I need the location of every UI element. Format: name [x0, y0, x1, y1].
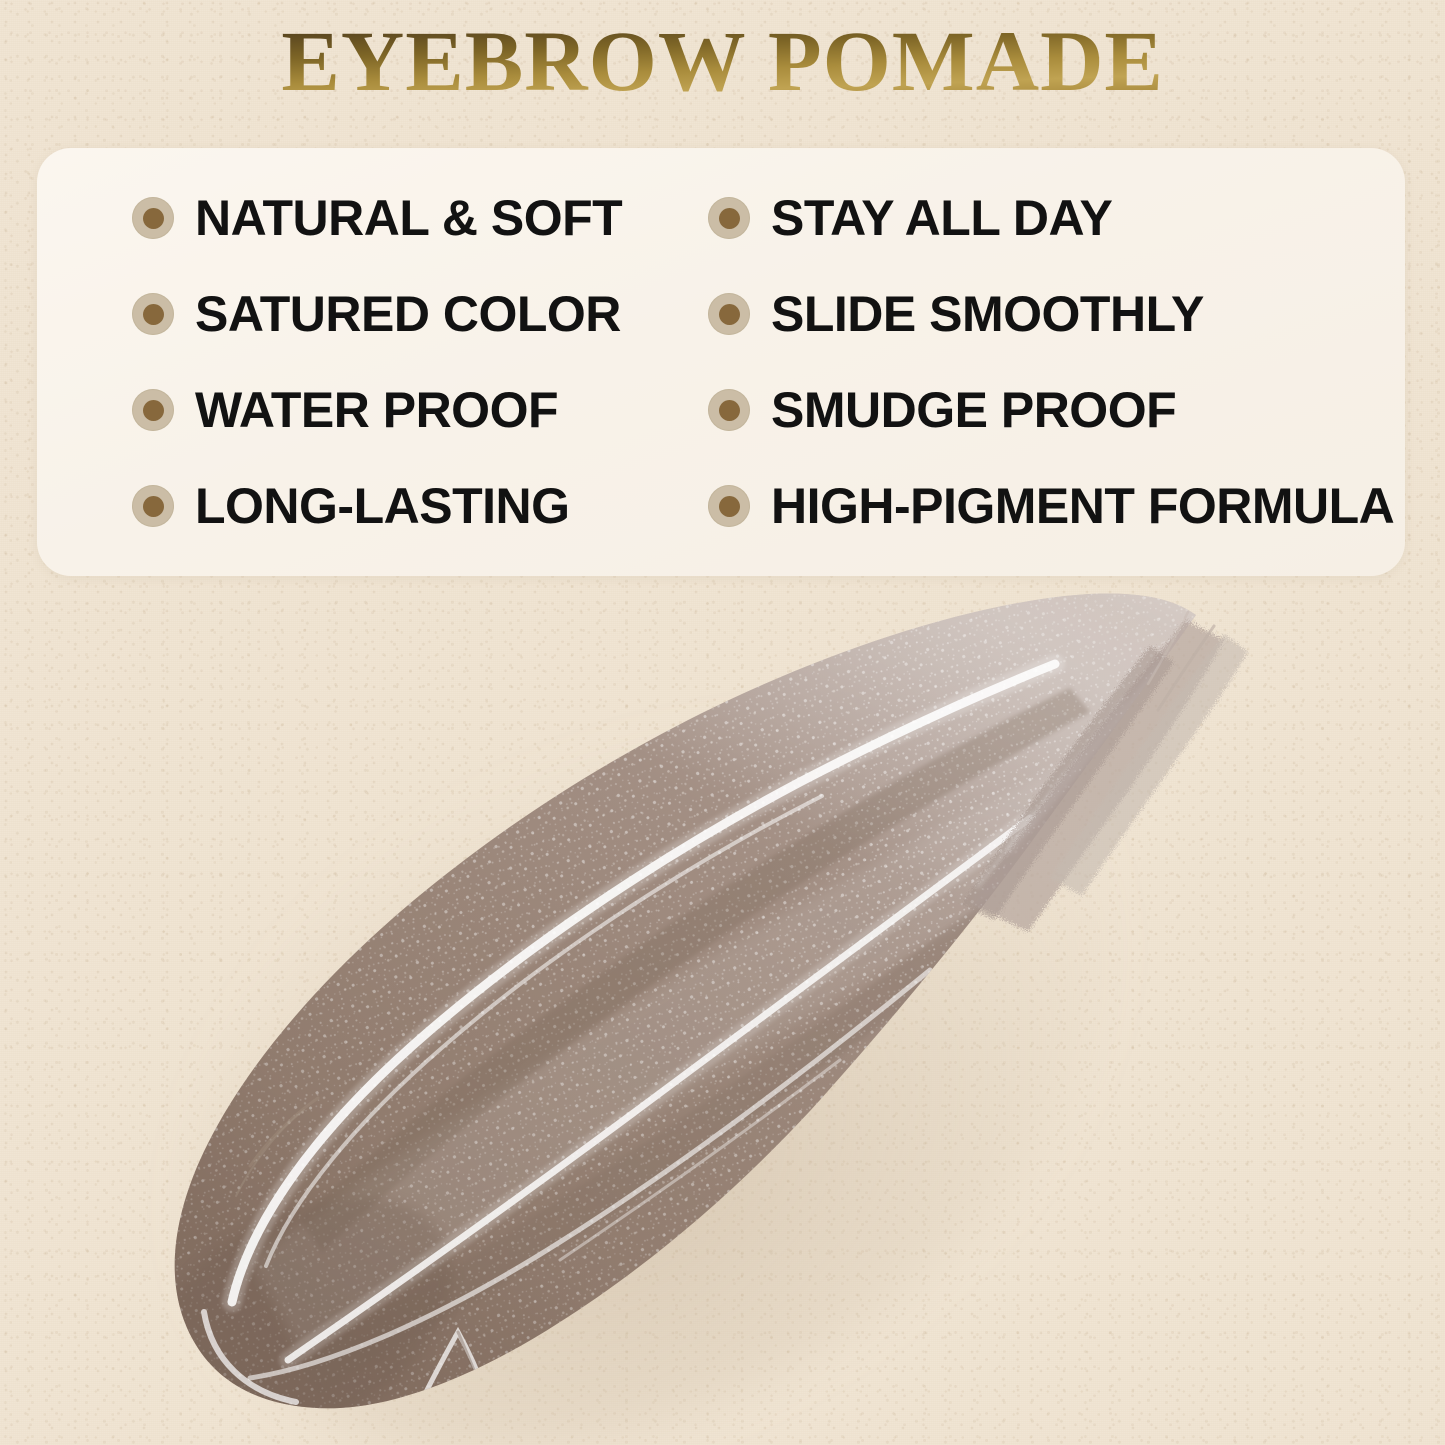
product-swatch-area — [0, 560, 1445, 1445]
product-marketing-image: EYEBROW POMADE NATURAL & SOFT STAY ALL D… — [0, 0, 1445, 1445]
feature-item-stay-all-day: STAY ALL DAY — [702, 170, 1405, 266]
bullet-dot-icon — [708, 485, 750, 527]
feature-item-natural-soft: NATURAL & SOFT — [37, 170, 702, 266]
page-title: EYEBROW POMADE — [281, 18, 1164, 106]
feature-item-high-pigment-formula: HIGH-PIGMENT FORMULA — [702, 458, 1405, 554]
bullet-dot-icon — [708, 293, 750, 335]
bullet-dot-icon — [132, 293, 174, 335]
feature-item-slide-smoothly: SLIDE SMOOTHLY — [702, 266, 1405, 362]
feature-label: HIGH-PIGMENT FORMULA — [771, 481, 1394, 531]
feature-item-long-lasting: LONG-LASTING — [37, 458, 702, 554]
feature-item-water-proof: WATER PROOF — [37, 362, 702, 458]
feature-item-smudge-proof: SMUDGE PROOF — [702, 362, 1405, 458]
feature-label: NATURAL & SOFT — [195, 193, 622, 243]
bullet-dot-icon — [132, 197, 174, 239]
feature-label: STAY ALL DAY — [771, 193, 1112, 243]
feature-label: SLIDE SMOOTHLY — [771, 289, 1204, 339]
eyebrow-pomade-swatch — [0, 560, 1445, 1445]
feature-label: SATURED COLOR — [195, 289, 621, 339]
bullet-dot-icon — [708, 197, 750, 239]
features-card: NATURAL & SOFT STAY ALL DAY SATURED COLO… — [37, 148, 1405, 576]
feature-item-satured-color: SATURED COLOR — [37, 266, 702, 362]
features-grid: NATURAL & SOFT STAY ALL DAY SATURED COLO… — [37, 148, 1405, 576]
page-title-container: EYEBROW POMADE — [0, 18, 1445, 106]
feature-label: SMUDGE PROOF — [771, 385, 1176, 435]
feature-label: WATER PROOF — [195, 385, 558, 435]
bullet-dot-icon — [708, 389, 750, 431]
bullet-dot-icon — [132, 485, 174, 527]
bullet-dot-icon — [132, 389, 174, 431]
feature-label: LONG-LASTING — [195, 481, 570, 531]
